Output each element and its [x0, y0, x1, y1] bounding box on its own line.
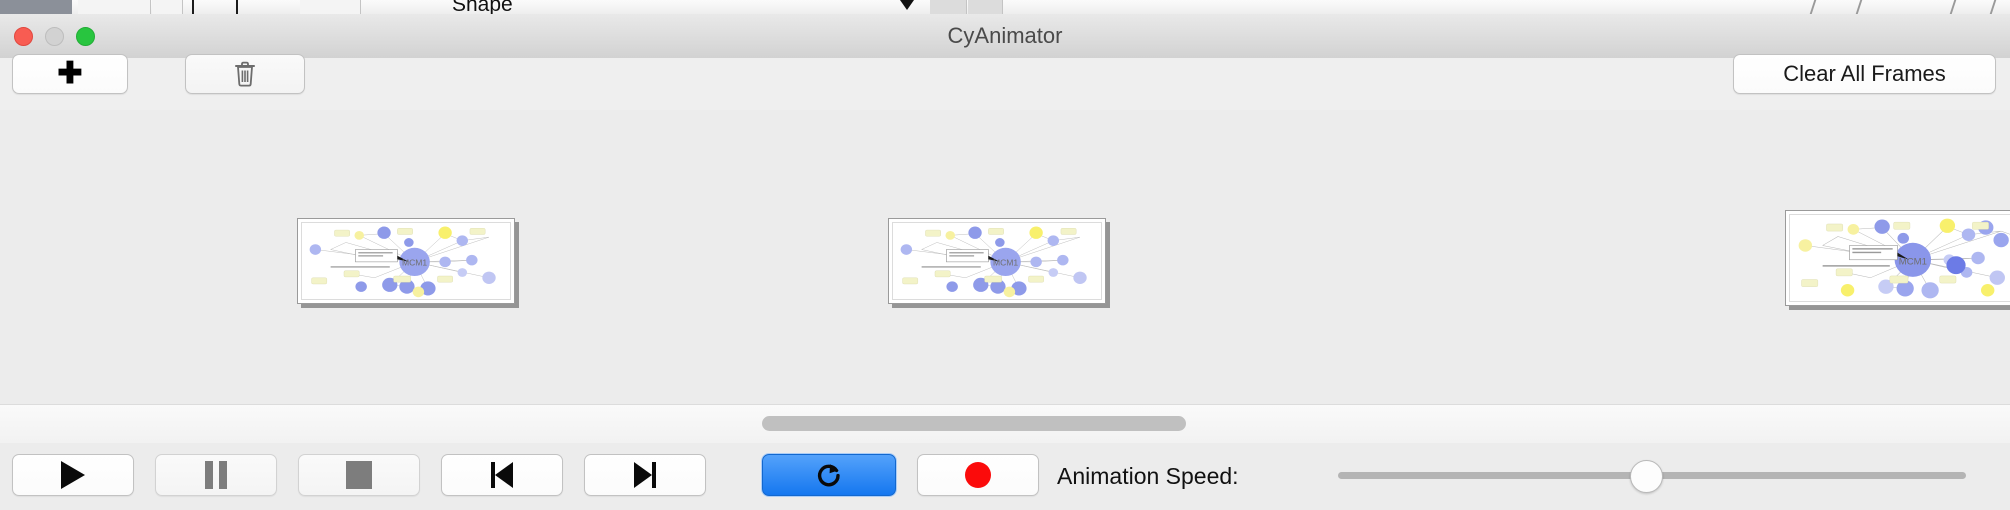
svg-text:MCM1: MCM1: [402, 259, 428, 268]
timeline-frame-thumbnail[interactable]: MCM1: [297, 218, 515, 304]
svg-text:MCM1: MCM1: [993, 259, 1019, 268]
background-cell: [78, 0, 151, 14]
trash-icon: [234, 61, 256, 87]
background-cell: [930, 0, 967, 14]
background-cell: [152, 0, 183, 14]
loop-button[interactable]: [762, 454, 896, 496]
network-graph-icon: MCM1: [1790, 215, 2010, 301]
record-button[interactable]: [917, 454, 1039, 496]
animation-speed-label: Animation Speed:: [1057, 463, 1239, 490]
maximize-window-button[interactable]: [76, 27, 95, 46]
timeline-panel[interactable]: MCM1: [0, 110, 2010, 400]
pause-button[interactable]: [155, 454, 277, 496]
thumbnail-canvas: MCM1: [1789, 214, 2010, 302]
delete-frame-button[interactable]: [185, 54, 305, 94]
network-graph-icon: MCM1: [302, 223, 510, 299]
background-wedge: [900, 0, 914, 10]
previous-frame-button[interactable]: [441, 454, 563, 496]
timeline-frame-thumbnail[interactable]: MCM1: [888, 218, 1106, 304]
pause-icon: [205, 461, 227, 489]
thumbnail-canvas: MCM1: [892, 222, 1102, 300]
background-tick: [236, 0, 238, 14]
next-frame-button[interactable]: [584, 454, 706, 496]
background-window-sidebar: [0, 0, 72, 14]
skip-next-icon: [634, 462, 656, 488]
background-divider: [1990, 0, 2010, 14]
timeline-frame-thumbnail[interactable]: MCM1: [1785, 210, 2010, 306]
cyanimator-window: Shape CyAnimator ✚ Clear All Frames: [0, 0, 2010, 510]
background-divider: [1810, 0, 1831, 14]
clear-all-frames-label: Clear All Frames: [1783, 61, 1946, 87]
background-tick: [192, 0, 194, 14]
plus-icon: ✚: [57, 59, 82, 89]
stop-button[interactable]: [298, 454, 420, 496]
record-icon: [965, 462, 991, 488]
svg-text:MCM1: MCM1: [1899, 257, 1927, 267]
play-button[interactable]: [12, 454, 134, 496]
background-divider: [1950, 0, 1971, 14]
skip-previous-icon: [491, 462, 513, 488]
minimize-window-button[interactable]: [45, 27, 64, 46]
loop-icon: [814, 460, 844, 490]
play-icon: [61, 461, 85, 489]
network-graph-icon: MCM1: [893, 223, 1101, 299]
thumbnail-canvas: MCM1: [301, 222, 511, 300]
animation-speed-slider[interactable]: [1338, 472, 1966, 479]
background-window-strip: Shape: [0, 0, 2010, 15]
background-window-label: Shape: [452, 0, 513, 15]
background-cell: [300, 0, 361, 14]
timeline-scrollbar[interactable]: [0, 404, 2010, 444]
stop-icon: [346, 461, 372, 489]
traffic-light-group: [14, 27, 95, 46]
add-frame-button[interactable]: ✚: [12, 54, 128, 94]
timeline-scrollbar-thumb[interactable]: [762, 416, 1186, 431]
background-cell: [968, 0, 1003, 14]
playback-control-bar: Animation Speed:: [0, 443, 2010, 510]
window-title: CyAnimator: [0, 14, 2010, 58]
clear-all-frames-button[interactable]: Clear All Frames: [1733, 54, 1996, 94]
close-window-button[interactable]: [14, 27, 33, 46]
animation-speed-slider-thumb[interactable]: [1630, 460, 1663, 493]
background-divider: [1856, 0, 1877, 14]
title-bar: CyAnimator: [0, 14, 2010, 59]
